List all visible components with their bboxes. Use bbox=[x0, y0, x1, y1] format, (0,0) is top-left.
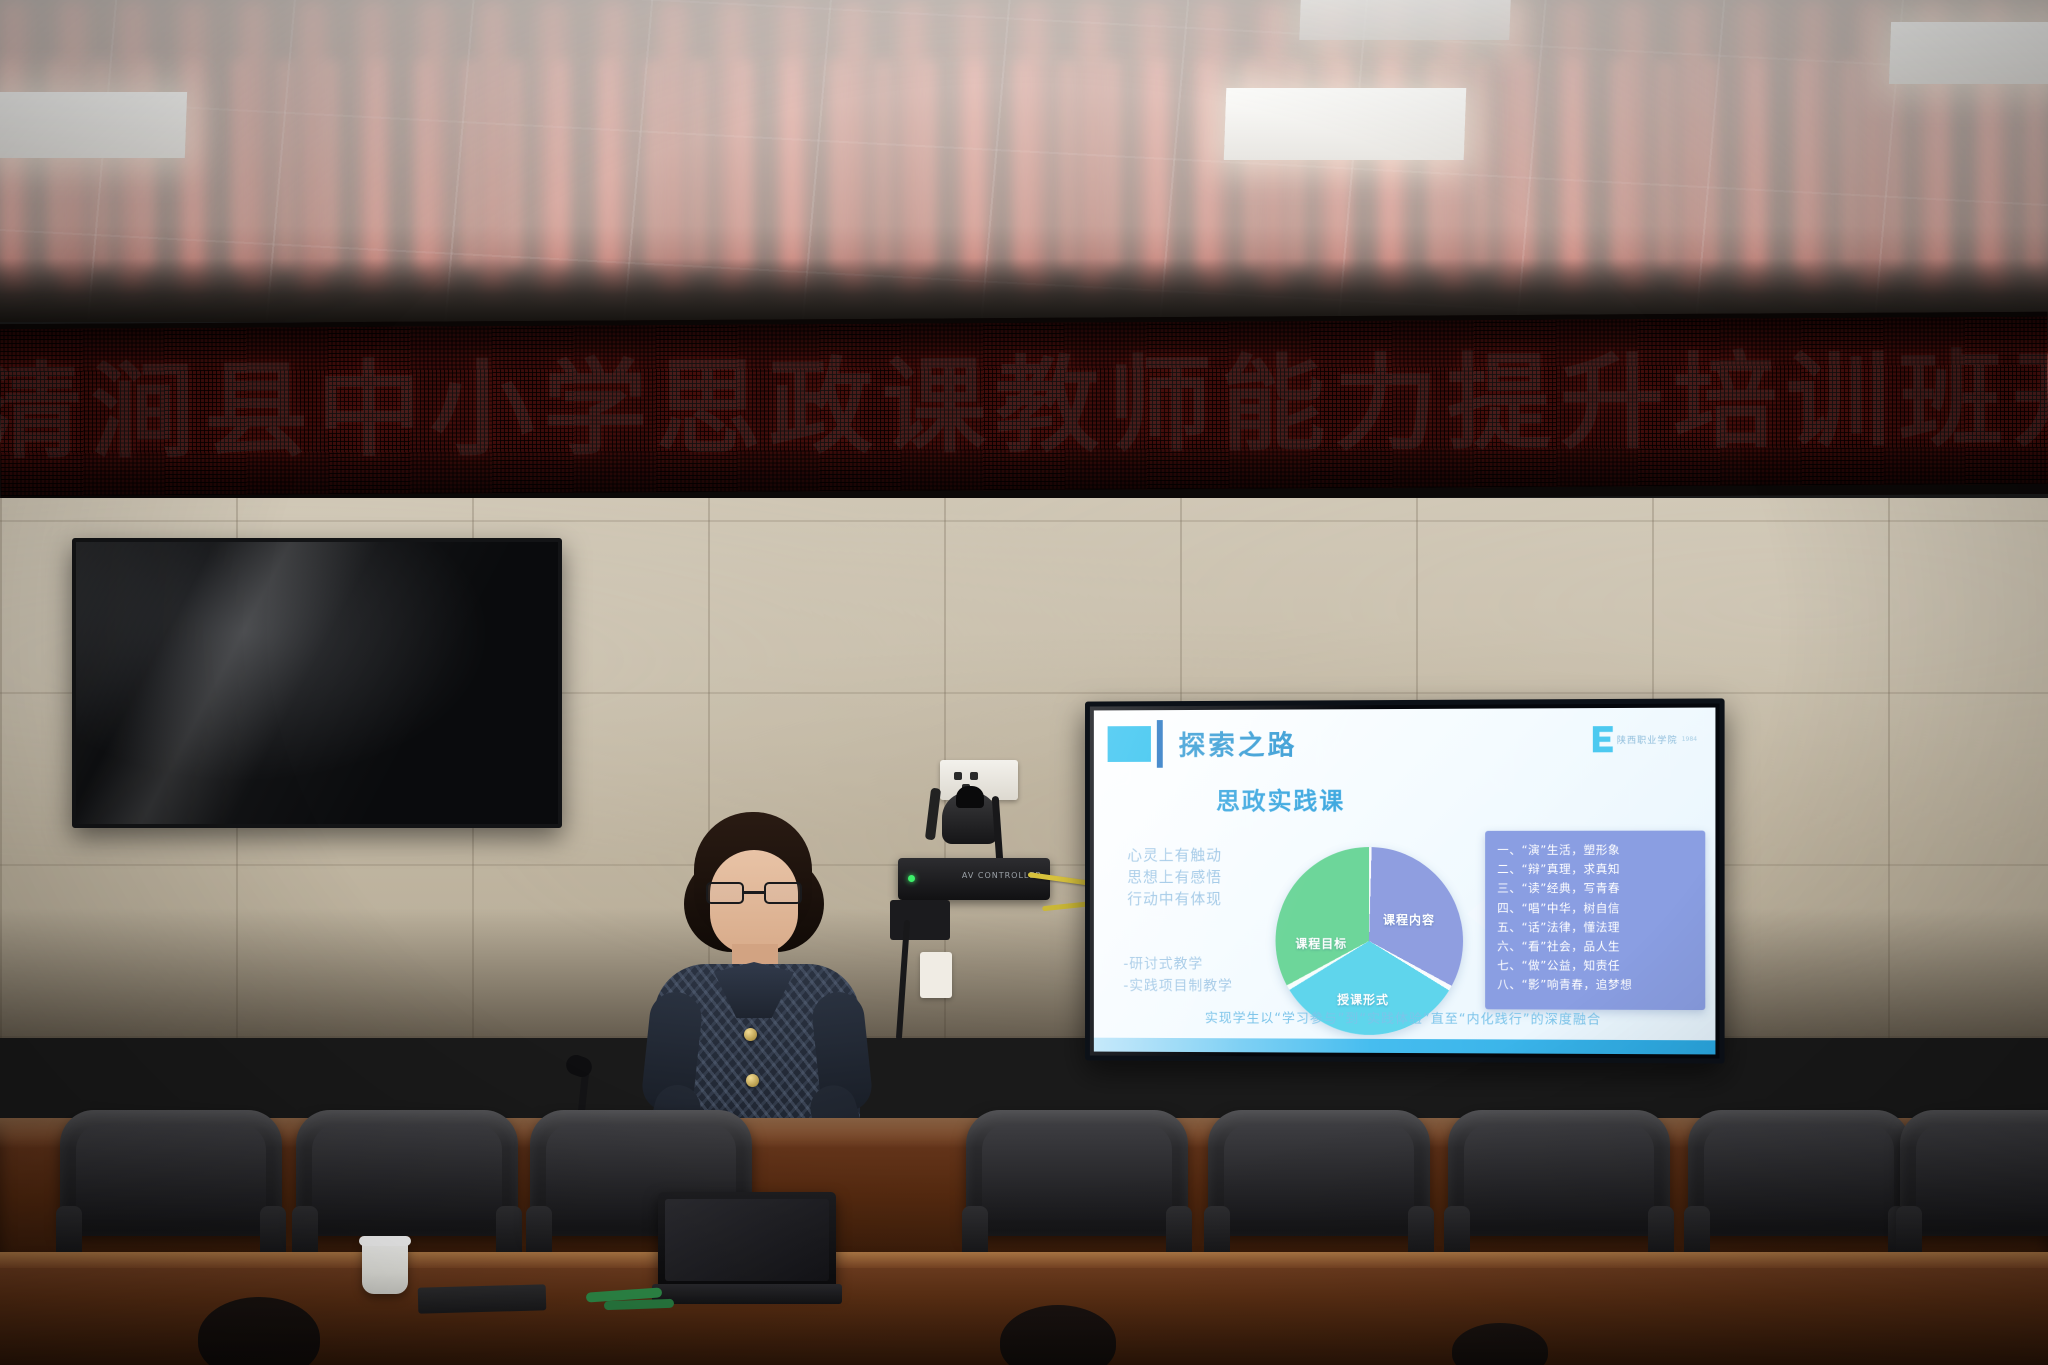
presentation-display[interactable]: 探索之路 陕西职业学院 1984 思政实践课 心灵上有触动 思想上有感悟 行动中… bbox=[1085, 698, 1725, 1063]
arrow-pointer-icon bbox=[1467, 897, 1487, 931]
outlet-socket-hole bbox=[954, 772, 962, 780]
slide-accent-bar bbox=[1157, 720, 1163, 768]
chair-back bbox=[1688, 1110, 1910, 1236]
microphone-head[interactable] bbox=[563, 1052, 594, 1080]
chair-back bbox=[60, 1110, 282, 1236]
ceiling-shadow-band bbox=[0, 258, 2048, 322]
teaching-method: -实践项目制教学 bbox=[1123, 976, 1233, 998]
document-folder[interactable] bbox=[418, 1284, 547, 1313]
camera-cable bbox=[992, 796, 1004, 862]
pie-label-form: 授课形式 bbox=[1337, 991, 1389, 1008]
logo-superscript: 1984 bbox=[1682, 735, 1698, 742]
chair-back bbox=[966, 1110, 1188, 1236]
teaching-method: -研讨式教学 bbox=[1123, 954, 1233, 976]
ceiling-light-panel bbox=[1889, 22, 2048, 84]
ceiling-light-panel bbox=[1299, 0, 1510, 40]
pie-label-content: 课程内容 bbox=[1383, 911, 1435, 928]
status-led-icon bbox=[908, 875, 915, 882]
slide-teaching-methods: -研讨式教学 -实践项目制教学 bbox=[1123, 954, 1233, 997]
camera-mount-arm bbox=[925, 788, 941, 841]
slide-caption: 实现学生以“学习参与”到“实践体验”直至“内化践行”的深度融合 bbox=[1094, 1007, 1716, 1028]
outlet-socket-hole bbox=[970, 772, 978, 780]
list-item: 五、“话”法律，懂法理 bbox=[1497, 918, 1693, 938]
jacket-button bbox=[746, 1074, 759, 1087]
chair-back bbox=[1208, 1110, 1430, 1236]
list-item: 四、“唱”中华，树自信 bbox=[1497, 899, 1693, 918]
list-item: 七、“做”公益，知责任 bbox=[1497, 956, 1693, 976]
left-television[interactable] bbox=[72, 538, 562, 828]
list-item: 一、“演”生活，塑形象 bbox=[1497, 841, 1693, 860]
list-item: 三、“读”经典，写青春 bbox=[1497, 879, 1693, 898]
wall-bottom-shadow bbox=[0, 908, 2048, 1038]
glasses-icon bbox=[706, 882, 802, 904]
laptop-lid bbox=[658, 1192, 836, 1288]
logo-e-icon bbox=[1593, 726, 1613, 752]
chair-back bbox=[296, 1110, 518, 1236]
jacket-button bbox=[744, 1028, 757, 1041]
chair-back bbox=[1900, 1110, 2048, 1236]
left-point: 思想上有感悟 bbox=[1127, 867, 1222, 889]
list-item: 八、“影”响青春，追梦想 bbox=[1497, 976, 1693, 996]
conference-room-photo: 清涧县中小学思政课教师能力提升培训班开班仪 AV CONTROLLER bbox=[0, 0, 2048, 1365]
ceiling-light-panel bbox=[0, 92, 187, 158]
left-point: 行动中有体现 bbox=[1127, 888, 1222, 910]
slide-subtitle: 思政实践课 bbox=[1216, 781, 1345, 816]
slide: 探索之路 陕西职业学院 1984 思政实践课 心灵上有触动 思想上有感悟 行动中… bbox=[1094, 708, 1716, 1055]
list-item: 六、“看”社会，品人生 bbox=[1497, 937, 1693, 957]
laptop-base bbox=[652, 1284, 842, 1304]
list-item: 二、“辩”真理，求真知 bbox=[1497, 860, 1693, 879]
led-vignette bbox=[0, 317, 2048, 497]
slide-title: 探索之路 bbox=[1179, 723, 1298, 762]
ceiling-light-panel bbox=[1224, 88, 1467, 160]
screen-reflection bbox=[76, 542, 558, 824]
desk-edge bbox=[0, 1252, 2048, 1268]
slide-accent-block bbox=[1108, 726, 1151, 762]
ceiling-camera bbox=[912, 782, 1044, 868]
logo-text: 陕西职业学院 bbox=[1617, 732, 1678, 745]
laptop[interactable] bbox=[652, 1192, 842, 1314]
glasses-lens-right bbox=[764, 882, 802, 904]
slide-left-points: 心灵上有触动 思想上有感悟 行动中有体现 bbox=[1127, 845, 1222, 910]
av-controller-secondary bbox=[890, 900, 950, 940]
camera-lens bbox=[956, 786, 984, 808]
institution-logo: 陕西职业学院 1984 bbox=[1593, 726, 1698, 753]
glasses-bridge bbox=[744, 891, 764, 894]
chair-back bbox=[1448, 1110, 1670, 1236]
ceiling bbox=[0, 0, 2048, 322]
paper-cup[interactable] bbox=[362, 1240, 408, 1294]
pie-label-goal: 课程目标 bbox=[1295, 935, 1347, 952]
left-point: 心灵上有触动 bbox=[1127, 845, 1222, 867]
numbered-activities-panel: 一、“演”生活，塑形象 二、“辩”真理，求真知 三、“读”经典，写青春 四、“唱… bbox=[1485, 831, 1705, 1010]
av-controller-box[interactable]: AV CONTROLLER bbox=[898, 858, 1050, 900]
glasses-lens-left bbox=[706, 882, 744, 904]
wall-connector-plate[interactable] bbox=[920, 952, 952, 998]
led-banner: 清涧县中小学思政课教师能力提升培训班开班仪 bbox=[0, 312, 2048, 507]
slide-bottom-bar bbox=[1094, 1038, 1716, 1055]
